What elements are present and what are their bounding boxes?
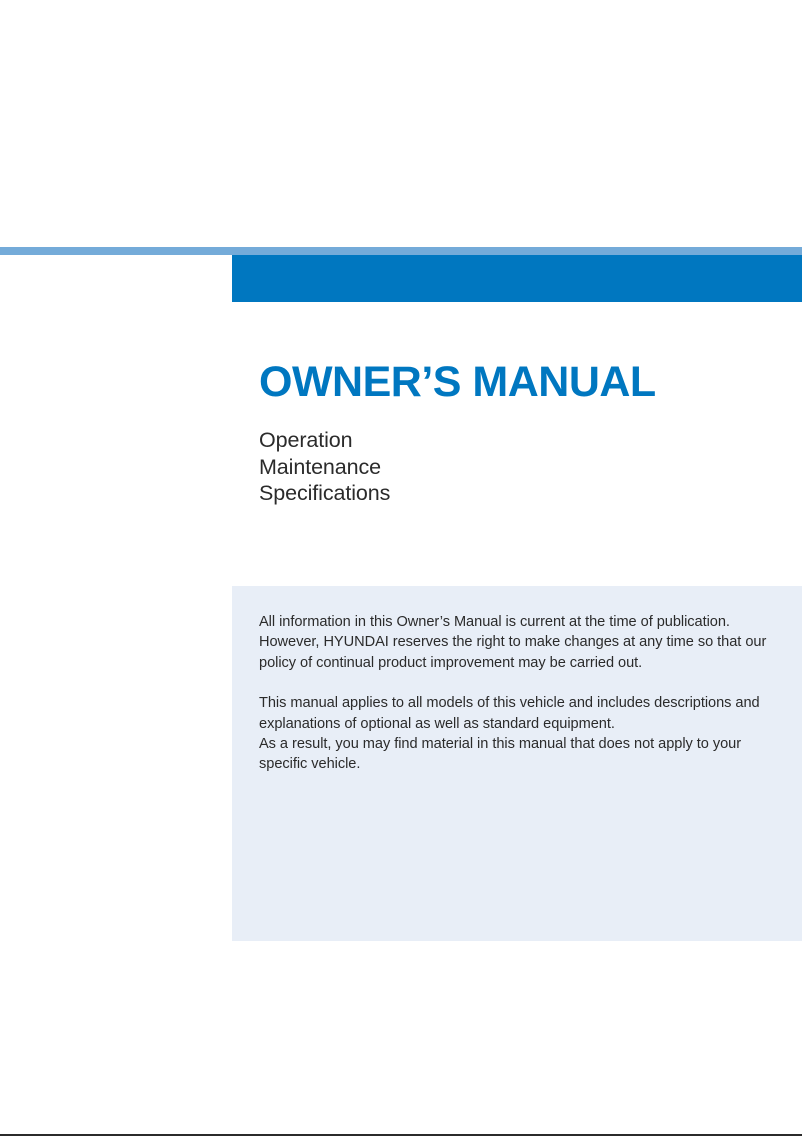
header-accent-rule bbox=[0, 247, 802, 255]
disclaimer-panel: All information in this Owner’s Manual i… bbox=[232, 586, 802, 941]
subtitle-item-specifications: Specifications bbox=[259, 480, 779, 507]
subtitle-list: Operation Maintenance Specifications bbox=[259, 427, 779, 507]
page-title: OWNER’S MANUAL bbox=[259, 361, 779, 404]
header-color-block bbox=[232, 255, 802, 302]
title-area: OWNER’S MANUAL Operation Maintenance Spe… bbox=[259, 361, 779, 507]
subtitle-item-maintenance: Maintenance bbox=[259, 454, 779, 481]
owners-manual-cover-page: OWNER’S MANUAL Operation Maintenance Spe… bbox=[0, 0, 802, 1136]
subtitle-item-operation: Operation bbox=[259, 427, 779, 454]
disclaimer-paragraph-publication: All information in this Owner’s Manual i… bbox=[259, 612, 782, 673]
disclaimer-paragraph-models: This manual applies to all models of thi… bbox=[259, 693, 782, 775]
